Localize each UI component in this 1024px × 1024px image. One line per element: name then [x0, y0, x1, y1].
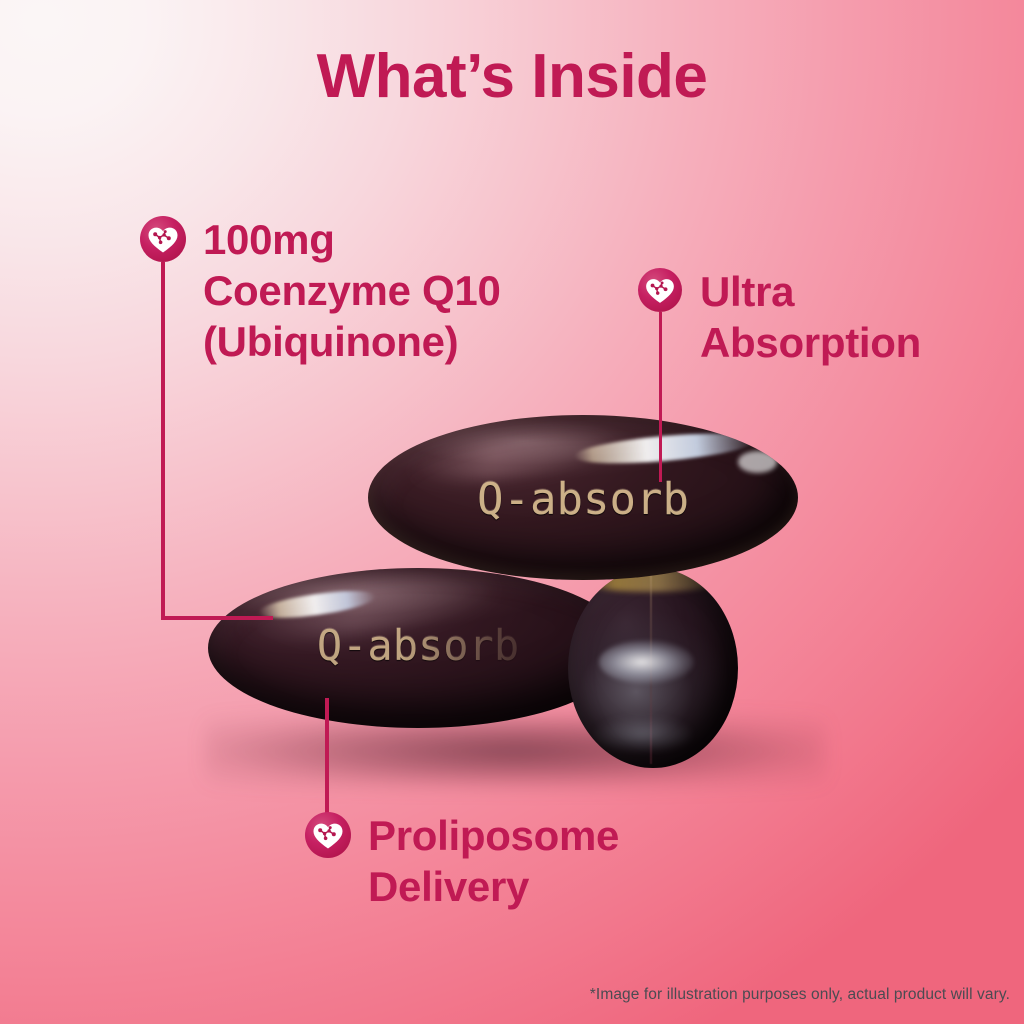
- softgel-capsule-round: [568, 568, 738, 768]
- product-shadow: [205, 715, 825, 787]
- product-infographic: What’s Inside Q-absorb Q-absorb: [0, 0, 1024, 1024]
- heart-molecule-icon: [140, 216, 186, 262]
- callout-label-coq10: 100mg Coenzyme Q10 (Ubiquinone): [203, 214, 501, 368]
- callout-label-proliposome: Proliposome Delivery: [368, 810, 619, 912]
- capsule-lower-glint: [592, 716, 694, 752]
- capsule-imprint-top: Q-absorb: [368, 474, 798, 525]
- capsule-edge-glint: [738, 451, 777, 472]
- disclaimer-text: *Image for illustration purposes only, a…: [590, 986, 1010, 1004]
- leader-line-coq10-horizontal: [161, 616, 273, 620]
- heart-molecule-icon: [638, 268, 682, 312]
- callout-label-ultra-absorption: Ultra Absorption: [700, 266, 921, 368]
- capsule-imprint-bottom: Q-absorb: [208, 621, 628, 670]
- callout-badge-coq10[interactable]: [140, 216, 186, 262]
- leader-line-coq10-vertical: [161, 262, 165, 620]
- callout-badge-proliposome[interactable]: [305, 812, 351, 858]
- softgel-capsule-top: Q-absorb: [368, 415, 798, 580]
- callout-badge-ultra-absorption[interactable]: [638, 268, 682, 312]
- leader-line-ultra-absorption: [659, 312, 662, 482]
- page-title: What’s Inside: [0, 44, 1024, 109]
- heart-molecule-icon: [305, 812, 351, 858]
- leader-line-proliposome: [325, 698, 329, 830]
- softgel-capsule-bottom: Q-absorb: [208, 568, 628, 728]
- product-image: Q-absorb Q-absorb: [150, 390, 890, 810]
- capsule-highlight: [599, 640, 694, 684]
